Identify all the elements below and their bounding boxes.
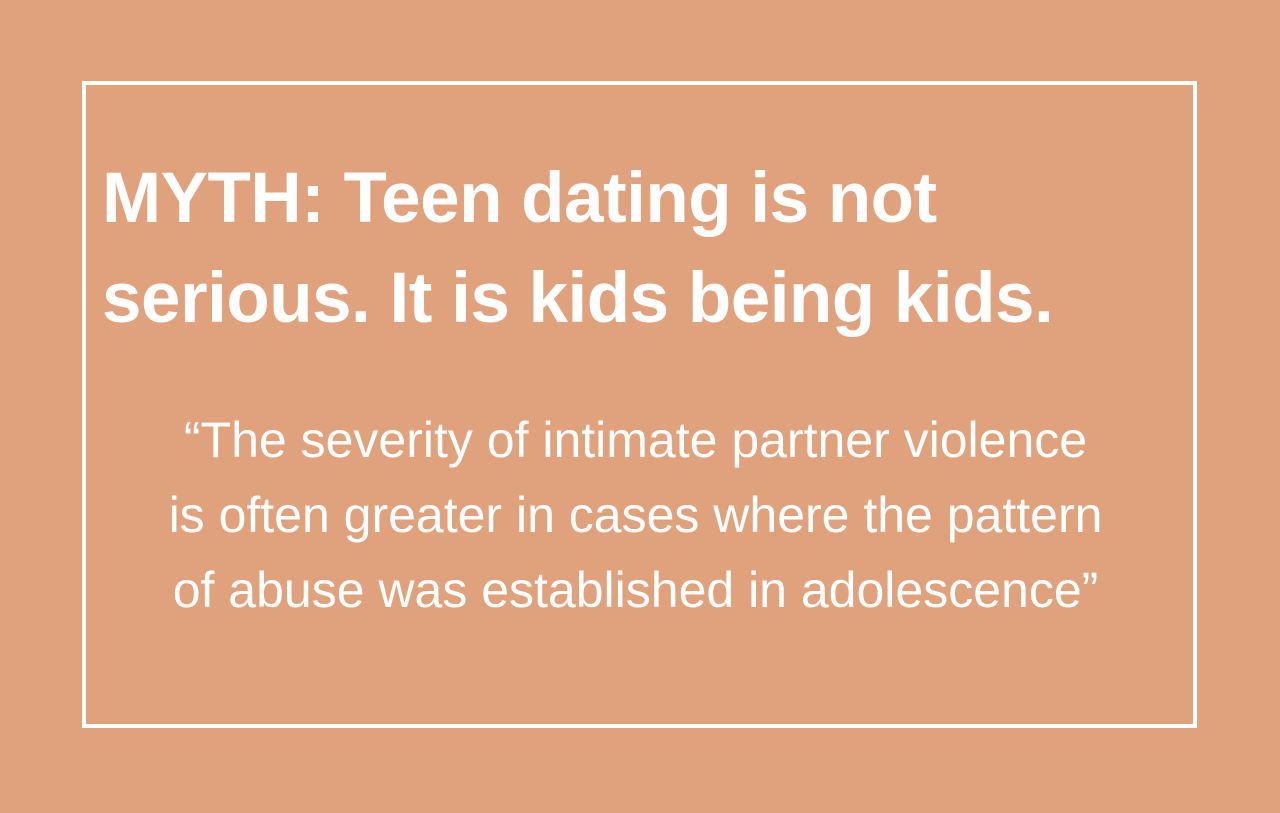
- slide-content: MYTH: Teen dating is not serious. It is …: [82, 81, 1197, 728]
- myth-info-slide: MYTH: Teen dating is not serious. It is …: [0, 0, 1280, 813]
- quote-text: “The severity of intimate partner violen…: [82, 403, 1189, 628]
- myth-heading: MYTH: Teen dating is not serious. It is …: [102, 149, 1102, 349]
